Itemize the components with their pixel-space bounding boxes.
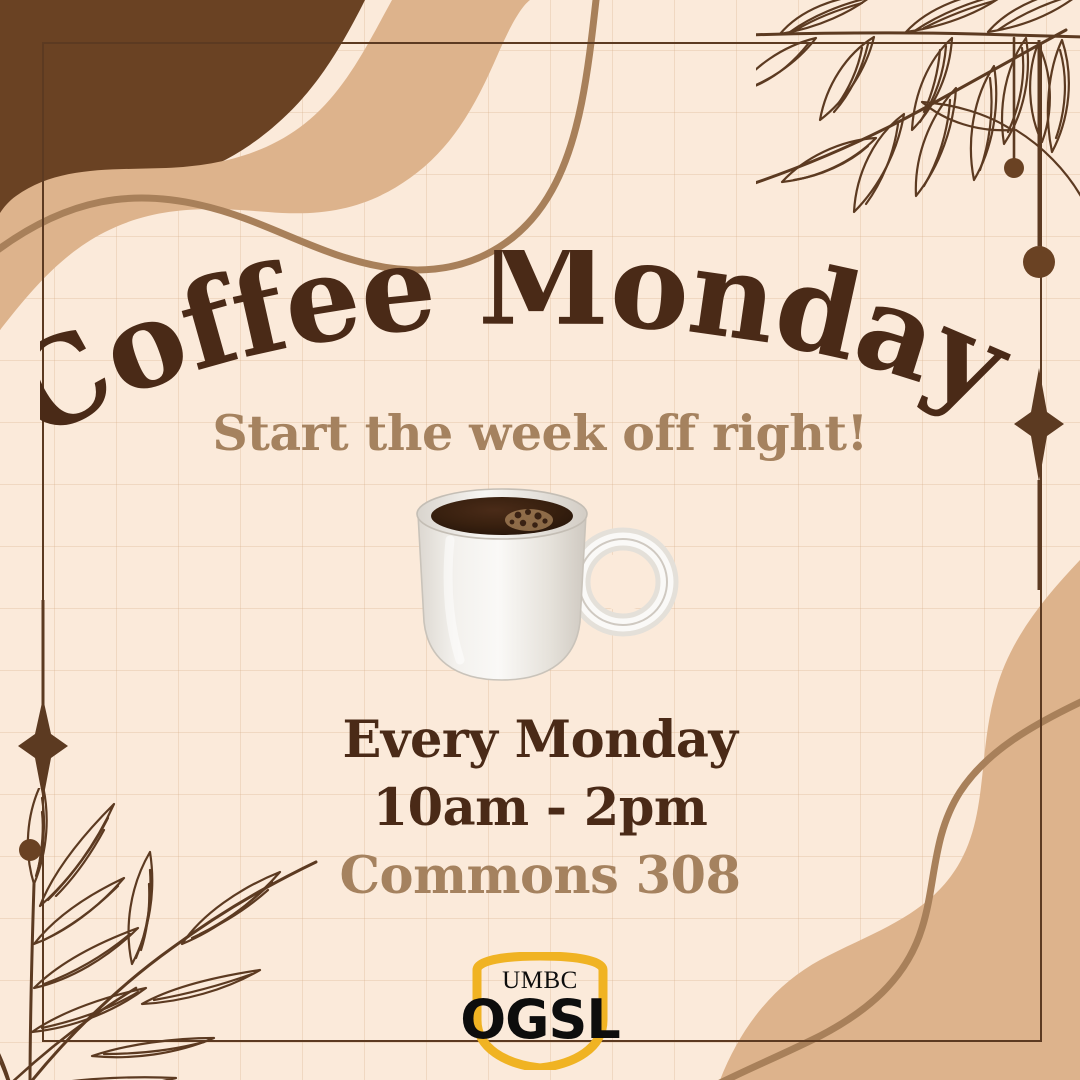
hanging-dot-icon-top-right [1018, 40, 1060, 280]
umbc-ogsl-logo: UMBC OGSL [435, 952, 645, 1070]
coffee-foam [505, 509, 553, 531]
poster-canvas: Coffee Mondays Start the week off right! [0, 0, 1080, 1080]
curve-line-top-left [0, 0, 596, 270]
coffee-cup-illustration [390, 462, 690, 707]
leaf-dot-ornament [1004, 158, 1024, 178]
coffee-liquid [431, 497, 573, 535]
detail-line-time: 10am - 2pm [0, 774, 1080, 842]
detail-line-day: Every Monday [0, 706, 1080, 774]
detail-line-location: Commons 308 [0, 842, 1080, 910]
logo-icon: UMBC OGSL [435, 952, 645, 1070]
page-subtitle: Start the week off right! [0, 404, 1080, 462]
botanical-leaves-icon-top-right [756, 0, 1080, 280]
coffee-cup-icon [390, 462, 690, 707]
logo-ogsl-label: OGSL [460, 988, 620, 1051]
event-details: Every Monday 10am - 2pm Commons 308 [0, 706, 1080, 910]
cup-handle [579, 539, 667, 625]
